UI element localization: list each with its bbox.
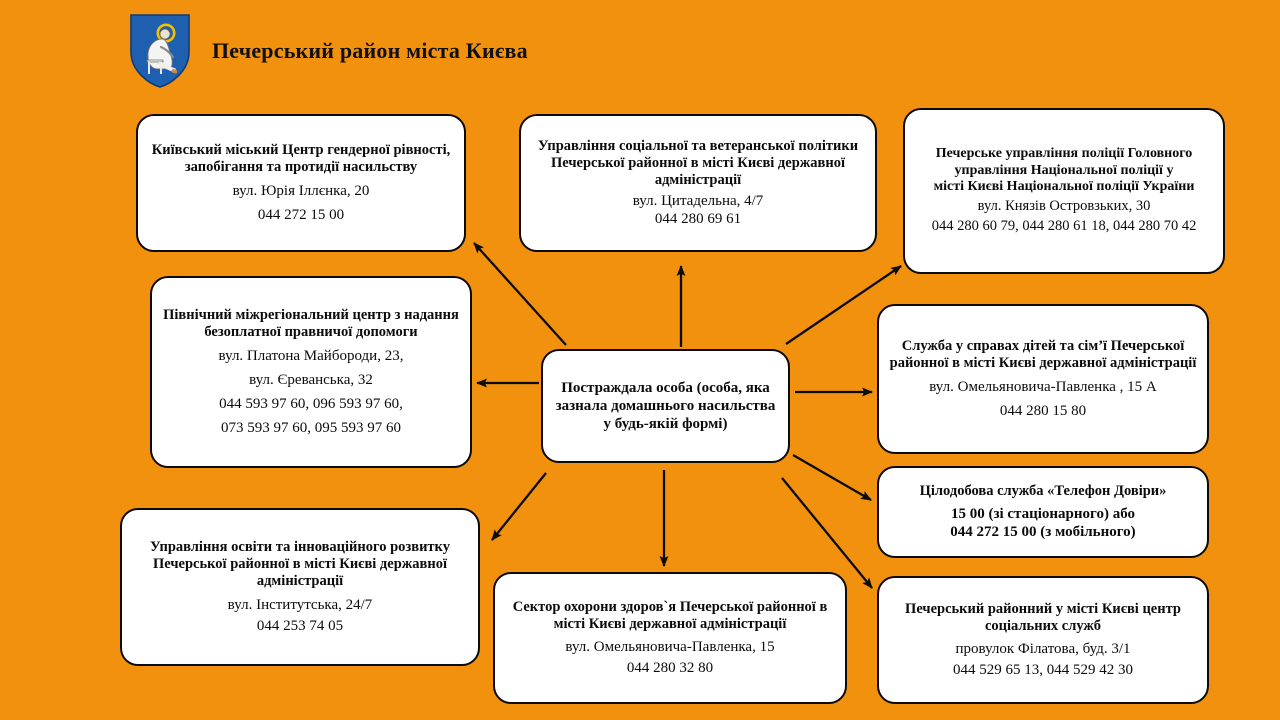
node-address-1: вул. Платона Майбороди, 23, [219,347,404,365]
node-phone: 044 280 15 80 [1000,402,1086,420]
node-phone: 044 272 15 00 [258,206,344,224]
node-phone: 044 280 60 79, 044 280 61 18, 044 280 70… [932,218,1197,235]
edge-victim-education [492,473,546,540]
page-title: Печерський район міста Києва [212,39,528,63]
node-police[interactable]: Печерське управління поліції Головного у… [903,108,1225,274]
node-address: провулок Філатова, буд. 3/1 [955,640,1130,658]
node-title: Цілодобова служба «Телефон Довіри» [920,483,1167,500]
node-address: вул. Цитадельна, 4/7 [633,192,764,210]
coat-of-arms-icon [130,14,190,88]
node-title: Постраждала особа (особа, яка зазнала до… [553,379,778,434]
node-title: Північний міжрегіональний центр з наданн… [162,307,460,341]
node-phone: 044 253 74 05 [257,617,343,635]
node-gender-center[interactable]: Київський міський Центр гендерної рівнос… [136,114,466,252]
node-phone-2: 073 593 97 60, 095 593 97 60 [221,419,401,437]
node-title: Печерське управління поліції Головного у… [915,146,1213,194]
hotline-mobile: 044 272 15 00 (з мобільного) [950,523,1135,541]
node-address: вул. Інститутська, 24/7 [228,596,373,614]
page-header: Печерський район міста Києва [130,12,690,90]
edge-victim-hotline [793,455,871,500]
node-address: вул. Юрія Іллєнка, 20 [233,182,370,200]
node-title: Печерський районний у місті Києві центр … [889,601,1197,635]
node-social-policy[interactable]: Управління соціальної та ветеранської по… [519,114,877,252]
edge-victim-gender-center [474,243,566,345]
diagram-canvas: Печерський район міста Києва [0,0,1280,720]
node-phone: 044 529 65 13, 044 529 42 30 [953,661,1133,679]
node-address: вул. Омельяновича-Павленка, 15 [565,638,774,656]
node-title: Сектор охорони здоров`я Печерської район… [505,599,835,633]
node-address: вул. Князів Островзьких, 30 [978,198,1151,215]
node-phone: 044 280 32 80 [627,659,713,677]
node-hotline[interactable]: Цілодобова служба «Телефон Довіри» 15 00… [877,466,1209,558]
hotline-landline: 15 00 (зі стаціонарного) або [951,505,1135,523]
node-title: Київський міський Центр гендерної рівнос… [148,142,454,176]
node-title: Управління соціальної та ветеранської по… [531,138,865,188]
node-phone-1: 044 593 97 60, 096 593 97 60, [219,395,403,413]
node-address: вул. Омельяновича-Павленка , 15 А [929,378,1157,396]
node-children-service[interactable]: Служба у справах дітей та сім’ї Печерськ… [877,304,1209,454]
node-education[interactable]: Управління освіти та інноваційного розви… [120,508,480,666]
node-legal-aid[interactable]: Північний міжрегіональний центр з наданн… [150,276,472,468]
node-health[interactable]: Сектор охорони здоров`я Печерської район… [493,572,847,704]
node-victim-center[interactable]: Постраждала особа (особа, яка зазнала до… [541,349,790,463]
node-title: Служба у справах дітей та сім’ї Печерськ… [889,338,1197,372]
node-title: Управління освіти та інноваційного розви… [132,539,468,589]
node-address-2: вул. Єреванська, 32 [249,371,373,389]
node-social-services[interactable]: Печерський районний у місті Києві центр … [877,576,1209,704]
node-phone: 044 280 69 61 [655,210,741,228]
